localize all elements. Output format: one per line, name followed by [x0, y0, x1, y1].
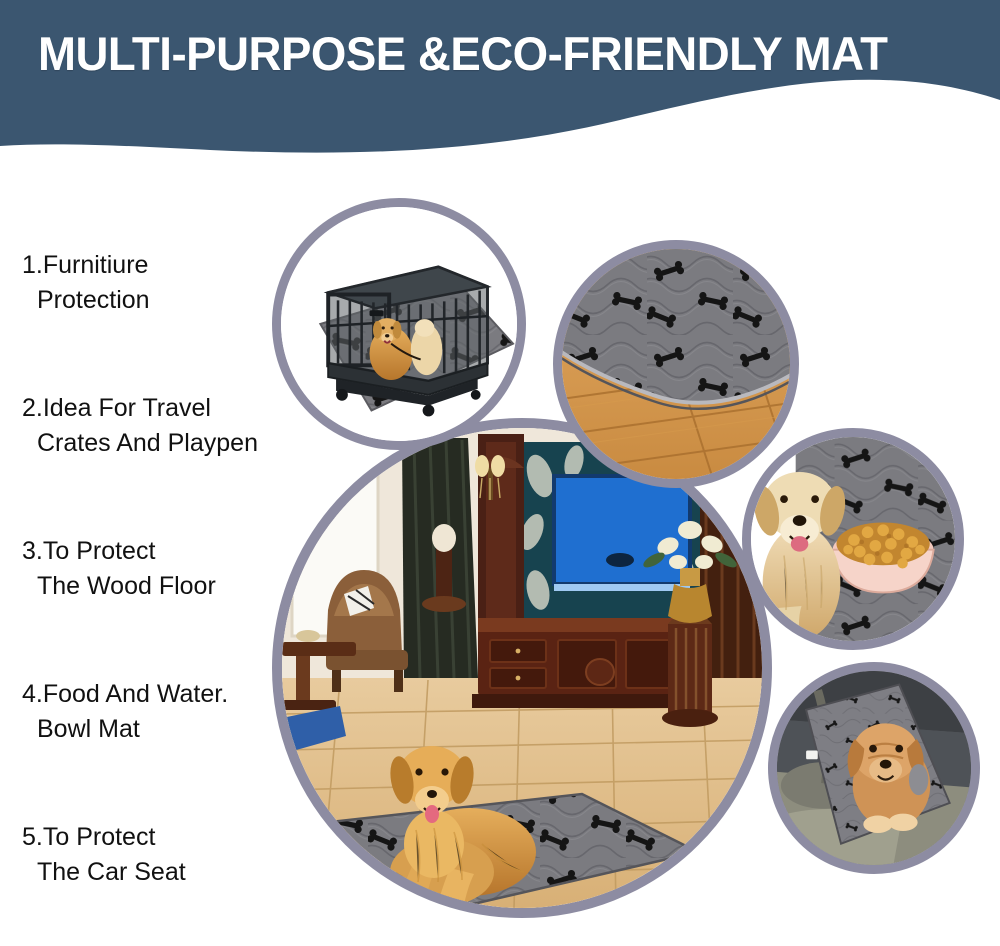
page-title: MULTI-PURPOSE &ECO-FRIENDLY MAT [38, 26, 888, 81]
photo-living-room [272, 418, 772, 918]
product-feature-page: MULTI-PURPOSE &ECO-FRIENDLY MAT 1.Furnit… [0, 0, 1000, 946]
photo-car-seat-image [777, 671, 971, 865]
photo-food-bowl-image [751, 437, 955, 641]
photo-living-room-image [282, 428, 762, 908]
header-banner: MULTI-PURPOSE &ECO-FRIENDLY MAT [0, 0, 1000, 160]
photo-collage [0, 150, 1000, 946]
photo-wood-floor [553, 240, 799, 488]
photo-crate-image [281, 207, 517, 441]
photo-crate [272, 198, 526, 450]
photo-wood-floor-image [562, 249, 790, 479]
photo-food-bowl [742, 428, 964, 650]
photo-car-seat [768, 662, 980, 874]
